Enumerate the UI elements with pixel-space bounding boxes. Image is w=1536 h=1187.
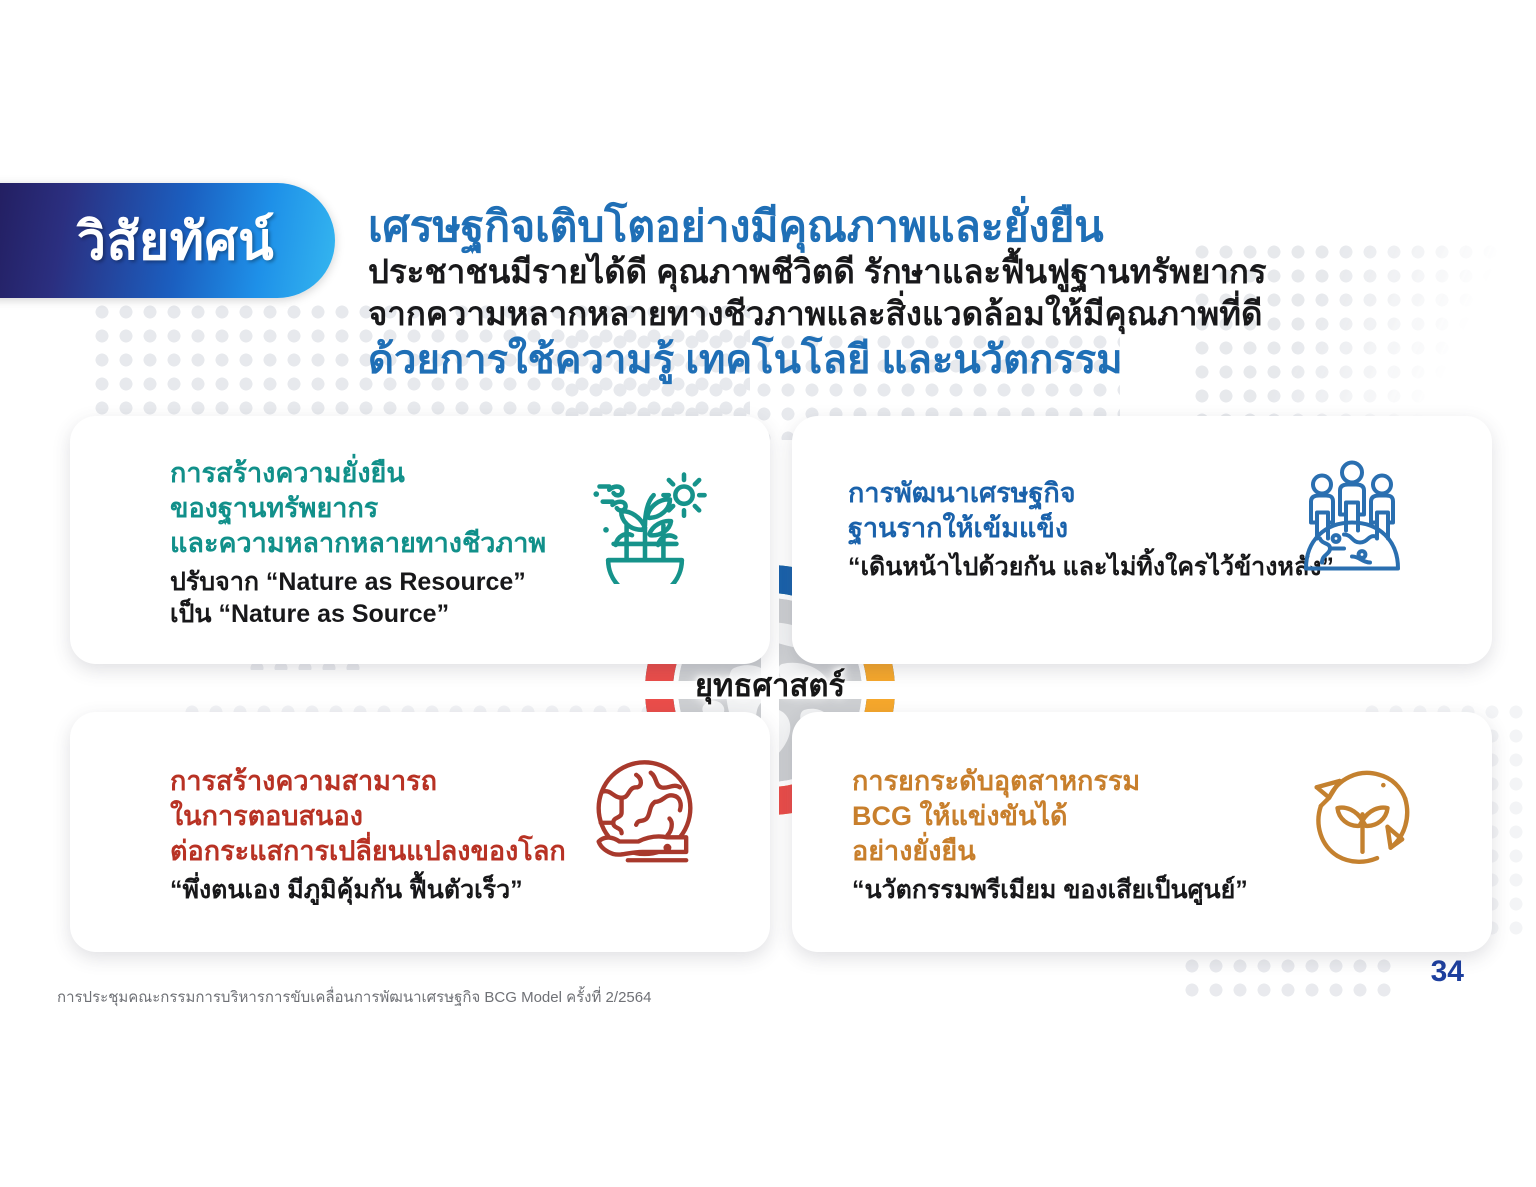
vision-enabler-line: ด้วยการใช้ความรู้ เทคโนโลยี และนวัตกรรม [368, 337, 1368, 384]
plant-globe-icon [580, 454, 710, 584]
strategy-center-label: ยุทธศาสตร์ [600, 660, 940, 710]
card-subtitle: ปรับจาก “Nature as Resource” เป็น “Natur… [170, 566, 640, 630]
page-number: 34 [1431, 955, 1464, 989]
header-text-block: เศรษฐกิจเติบโตอย่างมีคุณภาพและยั่งยืน ปร… [368, 205, 1368, 384]
vision-badge: วิสัยทัศน์ [0, 183, 335, 298]
strategy-card-bcg-industry-upgrade[interactable]: การยกระดับอุตสาหกรรม BCG ให้แข่งขันได้ อ… [792, 712, 1492, 952]
vision-badge-label: วิสัยทัศน์ [77, 199, 274, 282]
card-text-block: การสร้างความยั่งยืน ของฐานทรัพยากร และคว… [170, 456, 640, 630]
card-title: การยกระดับอุตสาหกรรม BCG ให้แข่งขันได้ อ… [852, 764, 1352, 869]
strategy-card-grassroots-economy[interactable]: การพัฒนาเศรษฐกิจ ฐานรากให้เข้มแข็ง “เดิน… [792, 416, 1492, 664]
card-subtitle: “เดินหน้าไปด้วยกัน และไม่ทิ้งใครไว้ข้างห… [848, 551, 1368, 583]
card-text-block: การพัฒนาเศรษฐกิจ ฐานรากให้เข้มแข็ง “เดิน… [848, 476, 1368, 583]
card-text-block: การยกระดับอุตสาหกรรม BCG ให้แข่งขันได้ อ… [852, 764, 1352, 906]
card-subtitle: “นวัตกรรมพรีเมียม ของเสียเป็นศูนย์” [852, 874, 1352, 906]
vision-detail-line-2: จากความหลากหลายทางชีวภาพและสิ่งแวดล้อมให… [368, 293, 1368, 335]
vision-detail-line-1: ประชาชนมีรายได้ดี คุณภาพชีวิตดี รักษาและ… [368, 251, 1368, 293]
strategy-card-sustainability-resource-base[interactable]: การสร้างความยั่งยืน ของฐานทรัพยากร และคว… [70, 416, 770, 664]
card-title: การสร้างความยั่งยืน ของฐานทรัพยากร และคว… [170, 456, 640, 561]
card-subtitle: “พึ่งตนเอง มีภูมิคุ้มกัน ฟื้นตัวเร็ว” [170, 874, 670, 906]
people-globe-icon [1292, 454, 1412, 579]
slide-canvas: วิสัยทัศน์ เศรษฐกิจเติบโตอย่างมีคุณภาพแล… [0, 0, 1536, 1187]
strategy-card-resilience-capability[interactable]: การสร้างความสามารถ ในการตอบสนอง ต่อกระแส… [70, 712, 770, 952]
footer-note: การประชุมคณะกรรมการบริหารการขับเคลื่อนกา… [57, 985, 651, 1009]
globe-hand-icon [582, 754, 707, 879]
vision-headline: เศรษฐกิจเติบโตอย่างมีคุณภาพและยั่งยืน [368, 205, 1368, 251]
card-title: การพัฒนาเศรษฐกิจ ฐานรากให้เข้มแข็ง [848, 476, 1368, 546]
recycle-sprout-icon [1300, 756, 1425, 881]
